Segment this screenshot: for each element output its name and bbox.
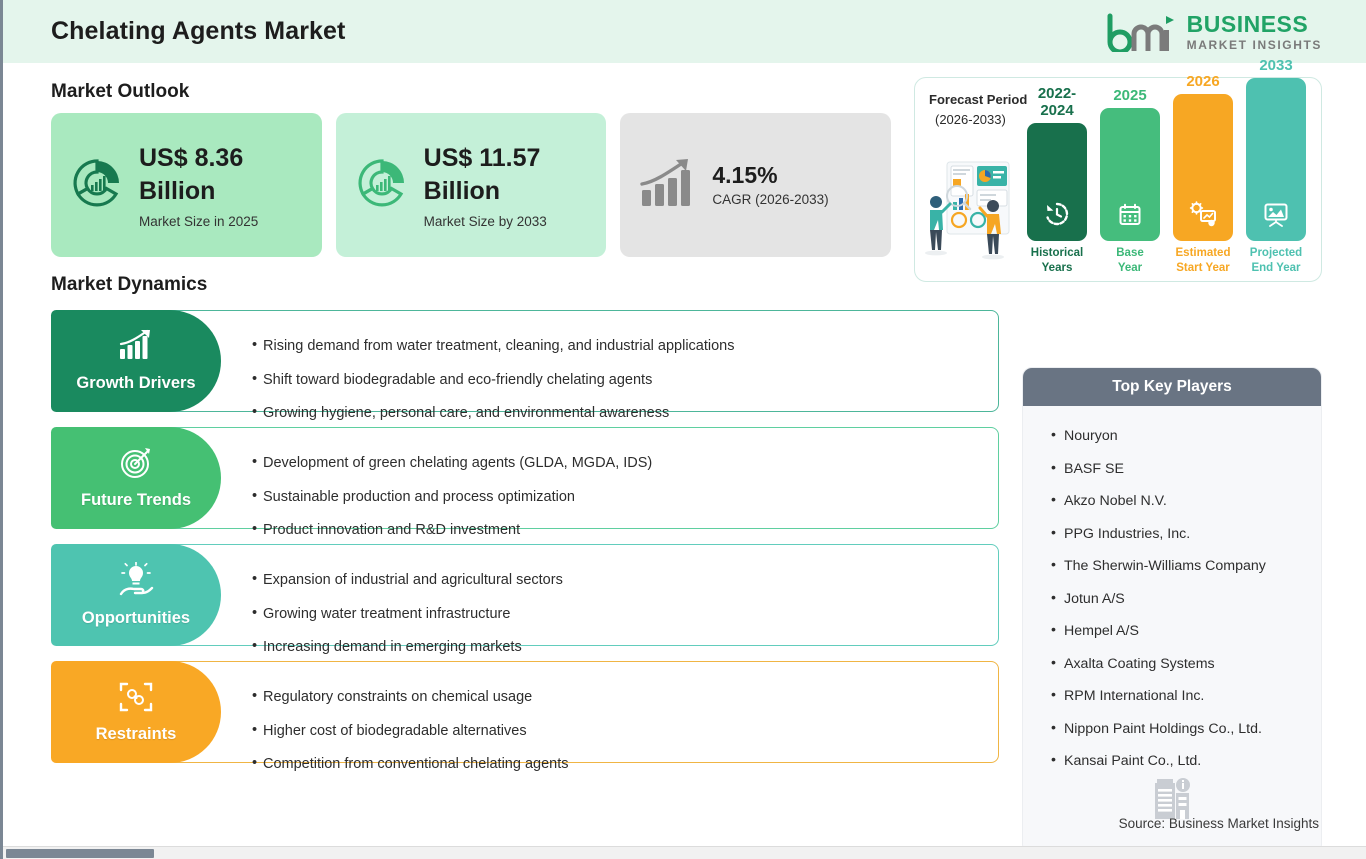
forecast-bar-year: 2026 (1173, 73, 1233, 90)
forecast-bar-projected-end-year: 2033 Projected End (1246, 57, 1306, 275)
forecast-bar-estimated-start-year: 2026 Estimated (1173, 73, 1233, 275)
forecast-bar-shape (1173, 94, 1233, 241)
bar-chart-arrow-icon (118, 329, 154, 368)
list-item: Hempel A/S (1051, 623, 1321, 639)
list-item: BASF SE (1051, 461, 1321, 477)
lightbulb-hand-icon (117, 562, 155, 603)
list-item: Nouryon (1051, 428, 1321, 444)
forecast-bar-year: 2033 (1246, 57, 1306, 74)
projection-board-icon (1246, 201, 1306, 227)
list-item: Nippon Paint Holdings Co., Ltd. (1051, 721, 1321, 737)
history-clock-icon (1027, 201, 1087, 227)
dynamics-point: Rising demand from water treatment, clea… (252, 339, 988, 354)
forecast-bar-shape (1027, 123, 1087, 241)
logo-secondary-text: MARKET INSIGHTS (1187, 39, 1322, 51)
forecast-title-block: Forecast Period (2026-2033) (929, 90, 1027, 130)
donut-bar-chart-icon (69, 155, 125, 216)
dynamics-point: Regulatory constraints on chemical usage (252, 690, 988, 705)
dynamics-points: Expansion of industrial and agricultural… (252, 561, 998, 655)
molecule-scan-icon (118, 680, 154, 719)
forecast-bar-label: Historical (1027, 246, 1087, 260)
forecast-bars: 2022-2024 Historical Years (1027, 78, 1319, 283)
forecast-range: (2026-2033) (929, 110, 1027, 130)
dynamics-label: Future Trends (81, 491, 191, 510)
donut-bar-chart-icon (354, 155, 410, 216)
dynamics-point: Growing hygiene, personal care, and envi… (252, 406, 988, 421)
outlook-card-unit: Billion (139, 175, 258, 208)
forecast-bar-label: Start Year (1173, 261, 1233, 275)
dynamics-row-future-trends: Future Trends Development of green chela… (51, 427, 999, 529)
outlook-card-unit: Billion (424, 175, 547, 208)
dynamics-point: Shift toward biodegradable and eco-frien… (252, 373, 988, 388)
dynamics-points: Development of green chelating agents (G… (252, 444, 998, 538)
forecast-bar-historical-years: 2022-2024 Historical Years (1027, 85, 1087, 275)
top-key-players-panel: Top Key Players Nouryon BASF SE Akzo Nob… (1022, 367, 1322, 854)
dynamics-row-opportunities: Opportunities Expansion of industrial an… (51, 544, 999, 646)
dynamics-badge: Opportunities (51, 544, 221, 646)
forecast-bar-label: Base (1100, 246, 1160, 260)
scrollbar-thumb[interactable] (6, 849, 154, 858)
team-analytics-illustration (923, 154, 1021, 264)
dynamics-point: Development of green chelating agents (G… (252, 456, 988, 471)
forecast-bar-year: 2022-2024 (1027, 85, 1087, 119)
forecast-bar-label: End Year (1246, 261, 1306, 275)
dynamics-badge: Restraints (51, 661, 221, 763)
horizontal-scrollbar[interactable] (3, 846, 1366, 859)
dynamics-label: Restraints (96, 725, 177, 744)
bmi-logo-icon (1106, 12, 1178, 52)
forecast-bar-label: Projected (1246, 246, 1306, 260)
target-dartboard-icon (119, 446, 153, 485)
key-players-title: Top Key Players (1023, 368, 1321, 406)
list-item: Axalta Coating Systems (1051, 656, 1321, 672)
outlook-card-market-size-2025: US$ 8.36 Billion Market Size in 2025 (51, 113, 322, 257)
dynamics-row-restraints: Restraints Regulatory constraints on che… (51, 661, 999, 763)
dynamics-point: Sustainable production and process optim… (252, 490, 988, 505)
forecast-bar-label: Year (1100, 261, 1160, 275)
outlook-card-value: 4.15% (712, 163, 828, 188)
source-text: Source: Business Market Insights (1119, 816, 1319, 831)
list-item: Kansai Paint Co., Ltd. (1051, 753, 1321, 769)
market-outlook-cards: US$ 8.36 Billion Market Size in 2025 (51, 113, 891, 257)
forecast-bar-base-year: 2025 (1100, 87, 1160, 275)
list-item: PPG Industries, Inc. (1051, 526, 1321, 542)
forecast-title: Forecast Period (929, 90, 1027, 110)
dynamics-badge: Growth Drivers (51, 310, 221, 412)
page-header: Chelating Agents Market BUSINESS MARKET … (3, 0, 1366, 63)
dynamics-row-growth-drivers: Growth Drivers Rising demand from water … (51, 310, 999, 412)
forecast-bar-year: 2025 (1100, 87, 1160, 104)
infographic-page: Chelating Agents Market BUSINESS MARKET … (0, 0, 1366, 859)
settings-presentation-icon (1173, 201, 1233, 227)
dynamics-point: Product innovation and R&D investment (252, 523, 988, 538)
dynamics-point: Competition from conventional chelating … (252, 757, 988, 772)
growth-arrow-chart-icon (638, 156, 698, 215)
dynamics-points: Regulatory constraints on chemical usage… (252, 678, 998, 772)
forecast-bar-shape (1100, 108, 1160, 241)
dynamics-points: Rising demand from water treatment, clea… (252, 327, 998, 421)
dynamics-label: Growth Drivers (76, 374, 195, 393)
outlook-card-market-size-2033: US$ 11.57 Billion Market Size by 2033 (336, 113, 607, 257)
list-item: Akzo Nobel N.V. (1051, 493, 1321, 509)
outlook-card-caption: Market Size in 2025 (139, 214, 258, 229)
list-item: The Sherwin-Williams Company (1051, 558, 1321, 574)
dynamics-point: Higher cost of biodegradable alternative… (252, 724, 988, 739)
outlook-card-caption: Market Size by 2033 (424, 214, 547, 229)
market-dynamics-list: Growth Drivers Rising demand from water … (51, 310, 999, 763)
dynamics-point: Expansion of industrial and agricultural… (252, 573, 988, 588)
list-item: Jotun A/S (1051, 591, 1321, 607)
outlook-card-value: US$ 11.57 (424, 142, 547, 175)
dynamics-badge: Future Trends (51, 427, 221, 529)
forecast-bar-label: Estimated (1173, 246, 1233, 260)
logo-primary-text: BUSINESS (1187, 13, 1322, 36)
outlook-card-caption: CAGR (2026-2033) (712, 192, 828, 207)
dynamics-label: Opportunities (82, 609, 190, 628)
forecast-bar-label: Years (1027, 261, 1087, 275)
page-title: Chelating Agents Market (51, 17, 345, 46)
dynamics-point: Increasing demand in emerging markets (252, 640, 988, 655)
key-players-list: Nouryon BASF SE Akzo Nobel N.V. PPG Indu… (1023, 406, 1321, 769)
forecast-period-panel: Forecast Period (2026-2033) (914, 77, 1322, 282)
forecast-bar-shape (1246, 78, 1306, 241)
calendar-icon (1100, 203, 1160, 227)
outlook-card-value: US$ 8.36 (139, 142, 258, 175)
brand-logo: BUSINESS MARKET INSIGHTS (1106, 12, 1322, 52)
outlook-card-cagr: 4.15% CAGR (2026-2033) (620, 113, 891, 257)
list-item: RPM International Inc. (1051, 688, 1321, 704)
dynamics-point: Growing water treatment infrastructure (252, 607, 988, 622)
